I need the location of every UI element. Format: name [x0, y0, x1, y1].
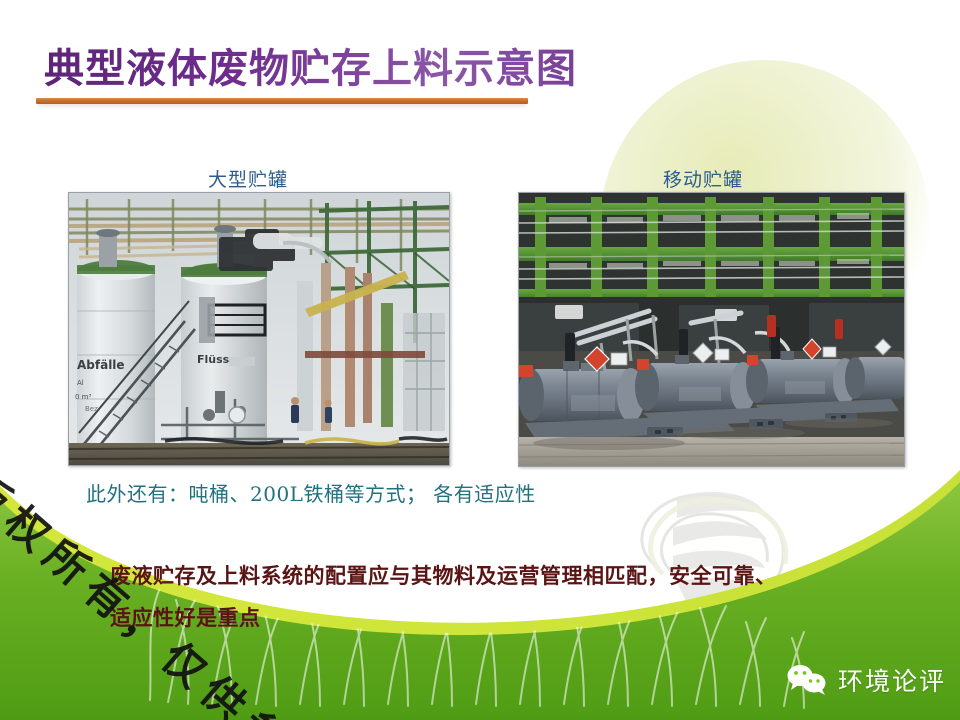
- svg-text:Abfälle: Abfälle: [77, 358, 125, 372]
- emphasis-line-2: 适应性好是重点: [110, 597, 900, 639]
- svg-text:Al: Al: [77, 379, 84, 387]
- emphasis-line-1: 废液贮存及上料系统的配置应与其物料及运营管理相匹配，安全可靠、: [110, 555, 900, 597]
- photo-large-storage-tank-graphic: Abfälle Al 0 m³ Bez Flüss: [69, 193, 449, 465]
- caption-large-storage-tank: 大型贮罐: [208, 165, 288, 192]
- emphasis-block: 废液贮存及上料系统的配置应与其物料及运营管理相匹配，安全可靠、 适应性好是重点: [110, 555, 900, 639]
- photo-large-storage-tank: Abfälle Al 0 m³ Bez Flüss: [68, 192, 450, 466]
- note-line: 此外还有：吨桶、200L铁桶等方式； 各有适应性: [86, 478, 536, 507]
- caption-mobile-storage-tank: 移动贮罐: [663, 165, 743, 192]
- wechat-account-badge: 环境论评: [776, 652, 956, 708]
- wechat-account-name: 环境论评: [838, 662, 946, 698]
- wechat-icon: [786, 663, 828, 697]
- title-divider: [36, 98, 528, 104]
- svg-text:0 m³: 0 m³: [75, 393, 91, 401]
- photo-mobile-storage-tank-graphic: [519, 193, 904, 466]
- slide-root: 典型液体废物贮存上料示意图 大型贮罐 移动贮罐: [0, 0, 960, 720]
- page-title: 典型液体废物贮存上料示意图: [44, 36, 577, 94]
- svg-text:Flüss: Flüss: [197, 353, 230, 366]
- photo-mobile-storage-tank: [518, 192, 905, 467]
